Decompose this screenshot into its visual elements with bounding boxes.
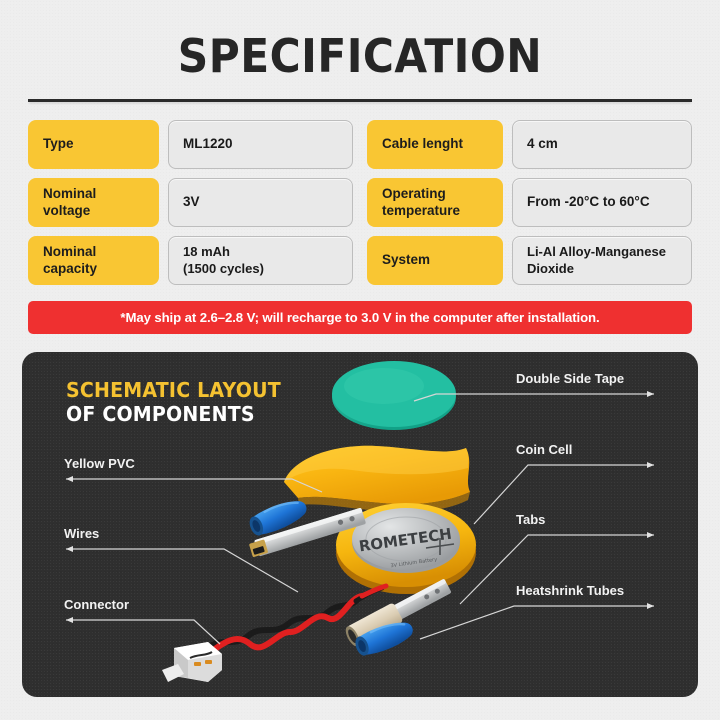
spec-key: Nominal capacity <box>28 236 159 285</box>
callout-label-wires: Wires <box>64 526 99 541</box>
page-title: SPECIFICATION <box>29 0 691 79</box>
spec-value: ML1220 <box>168 120 353 169</box>
spec-row: Nominal voltage 3V <box>28 178 353 227</box>
leader-wires <box>66 549 298 592</box>
spec-row: System Li-Al Alloy-Manganese Dioxide <box>367 236 692 285</box>
spec-row: Cable lenght 4 cm <box>367 120 692 169</box>
spec-key: Operating temperature <box>367 178 503 227</box>
leader-coin-cell <box>474 465 654 524</box>
callout-label-coin-cell: Coin Cell <box>516 442 572 457</box>
spec-row: Nominal capacity 18 mAh (1500 cycles) <box>28 236 353 285</box>
callout-label-connector: Connector <box>64 597 129 612</box>
schematic-panel: SCHEMATIC LAYOUT OF COMPONENTS <box>22 352 698 697</box>
callout-label-yellow-pvc: Yellow PVC <box>64 456 135 471</box>
specification-page: SPECIFICATION Type ML1220 Nominal voltag… <box>0 0 720 720</box>
spec-column-right: Cable lenght 4 cm Operating temperature … <box>367 120 692 285</box>
spec-value: Li-Al Alloy-Manganese Dioxide <box>512 236 692 285</box>
leader-lines <box>22 352 698 697</box>
spec-row: Type ML1220 <box>28 120 353 169</box>
leader-connector <box>66 620 220 644</box>
leader-yellow-pvc <box>66 479 322 492</box>
leader-heatshrink-tubes <box>420 606 654 639</box>
leader-double-side-tape <box>414 394 654 401</box>
spec-value: 4 cm <box>512 120 692 169</box>
callout-label-tabs: Tabs <box>516 512 545 527</box>
callout-label-double-side-tape: Double Side Tape <box>516 371 624 386</box>
warning-banner: *May ship at 2.6–2.8 V; will recharge to… <box>28 301 692 334</box>
spec-column-left: Type ML1220 Nominal voltage 3V Nominal c… <box>28 120 353 285</box>
callout-label-heatshrink-tubes: Heatshrink Tubes <box>516 583 624 598</box>
spec-key: Nominal voltage <box>28 178 159 227</box>
spec-row: Operating temperature From -20°C to 60°C <box>367 178 692 227</box>
title-divider <box>28 99 692 102</box>
spec-key: System <box>367 236 503 285</box>
spec-key: Type <box>28 120 159 169</box>
spec-value: 18 mAh (1500 cycles) <box>168 236 353 285</box>
specification-table: Type ML1220 Nominal voltage 3V Nominal c… <box>28 120 692 285</box>
spec-key: Cable lenght <box>367 120 503 169</box>
spec-value: 3V <box>168 178 353 227</box>
spec-value: From -20°C to 60°C <box>512 178 692 227</box>
